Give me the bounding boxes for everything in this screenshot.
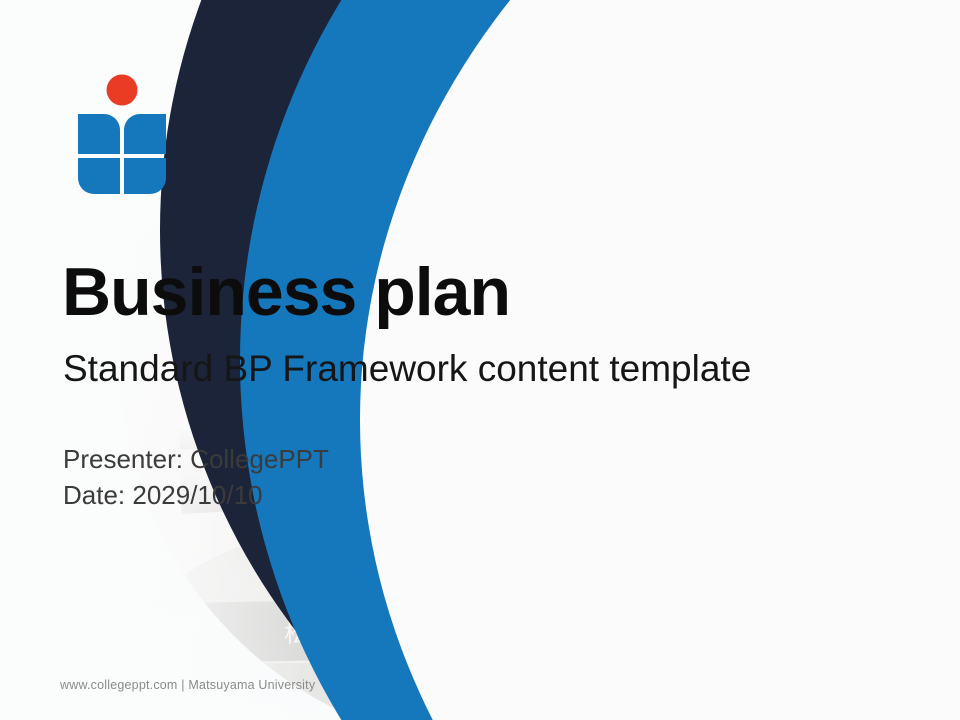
presentation-meta: Presenter: CollegePPT Date: 2029/10/10 (63, 442, 329, 514)
page-subtitle: Standard BP Framework content template (63, 350, 751, 387)
footer-credit: www.collegeppt.com | Matsuyama Universit… (60, 678, 315, 692)
date-line: Date: 2029/10/10 (63, 478, 329, 514)
presenter-line: Presenter: CollegePPT (63, 442, 329, 478)
slide-content: Business plan Standard BP Framework cont… (0, 0, 960, 720)
matsuyama-university-logo-icon (70, 72, 174, 200)
presentation-slide: 2023年、松山大学は創立100周年。 松山大學 (0, 0, 960, 720)
page-title: Business plan (62, 258, 510, 326)
